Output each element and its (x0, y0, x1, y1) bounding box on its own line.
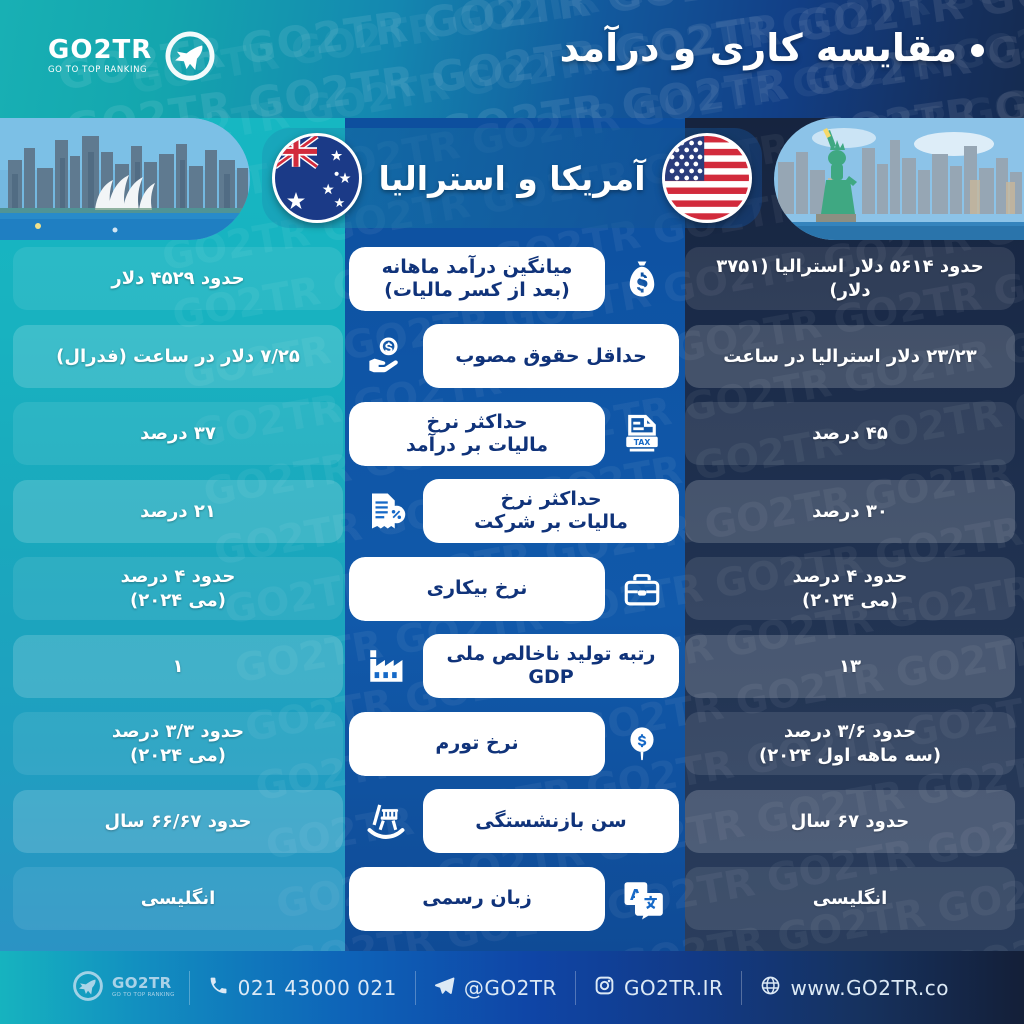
footer-telegram[interactable]: @GO2TR (416, 975, 575, 1001)
sydney-skyline-photo (0, 118, 250, 240)
country-pair-label: آمریکا و استرالیا (378, 159, 645, 198)
footer-website[interactable]: www.GO2TR.co (742, 975, 967, 1001)
logo-tagline: GO TO TOP RANKING (48, 66, 152, 75)
australia-value-cell: حدود ۶۷ سال (685, 790, 1015, 853)
usa-value-line1: حدود ۳/۳ درصد (112, 721, 244, 742)
statue-of-liberty-photo (774, 118, 1024, 240)
footer-logo-tagline: GO TO TOP RANKING (112, 993, 175, 999)
australia-value-line2: (می ۲۰۲۴) (802, 590, 898, 611)
table-row: ۳۰ درصد حداکثر نرخ مالیات بر شرکت ۲۱ درص… (0, 473, 1024, 551)
row-label-center: حداکثر نرخ مالیات بر شرکت (349, 479, 679, 543)
row-label: سن بازنشستگی (423, 789, 679, 853)
usa-flag-icon (662, 133, 752, 223)
footer-logo-name: GO2TR (112, 976, 175, 991)
australia-value-line1: حدود ۳/۶ درصد (784, 721, 916, 742)
table-row: انگلیسی A زبان رسمی انگلیسی (0, 860, 1024, 938)
row-label-center: میانگین درآمد ماهانه (بعد از کسر مالیات) (349, 247, 679, 311)
row-label: نرخ بیکاری (349, 557, 605, 621)
row-label-center: نرخ بیکاری (349, 557, 679, 621)
header-bar: GO2TR GO2TR GO2TR GO2TR GO2TR GO2TR GO2T… (0, 0, 1024, 118)
tax-document-icon: TAX (605, 402, 679, 466)
row-label-line2: (بعد از کسر مالیات) (384, 279, 570, 301)
row-label: نرخ تورم (349, 712, 605, 776)
row-label-line2: GDP (528, 666, 573, 688)
svg-text:TAX: TAX (634, 438, 651, 447)
table-row: حدود ۶۷ سال سن بازنشستگی حدود ۶۶/۶۷ سال (0, 783, 1024, 861)
usa-value-cell: انگلیسی (13, 867, 343, 930)
australia-flag-icon (272, 133, 362, 223)
usa-value-cell: ۳۷ درصد (13, 402, 343, 465)
australia-value-line2: (سه ماهه اول ۲۰۲۴) (759, 745, 941, 766)
row-label: حداکثر نرخ مالیات بر شرکت (423, 479, 679, 543)
page-title: مقایسه کاری و درآمد (560, 26, 984, 70)
hand-coin-icon (349, 324, 423, 388)
australia-value-cell: ۳۰ درصد (685, 480, 1015, 543)
table-row: ۴۵ درصد TAX حداکثر نرخ مالیات بر درآمد ۳… (0, 395, 1024, 473)
row-label-center: TAX حداکثر نرخ مالیات بر درآمد (349, 402, 679, 466)
dollar-balloon-icon (605, 712, 679, 776)
australia-value-cell: انگلیسی (685, 867, 1015, 930)
globe-icon (760, 975, 781, 1001)
row-label-line2: مالیات بر شرکت (474, 511, 628, 533)
telegram-icon (434, 975, 455, 1001)
country-banner: آمریکا و استرالیا (0, 118, 1024, 240)
row-label-line1: میانگین درآمد ماهانه (382, 256, 573, 278)
row-label: رتبه تولید ناخالص ملی GDP (423, 634, 679, 698)
footer-phone[interactable]: 021 43000 021 (190, 975, 415, 1001)
money-bag-icon (605, 247, 679, 311)
usa-value-cell: حدود ۴۵۲۹ دلار (13, 247, 343, 310)
australia-value-cell: ۲۳/۲۳ دلار استرالیا در ساعت (685, 325, 1015, 388)
australia-value-cell: ۱۳ (685, 635, 1015, 698)
usa-value-cell: ۱ (13, 635, 343, 698)
factory-icon (349, 634, 423, 698)
row-label: زبان رسمی (349, 867, 605, 931)
footer-website-text: www.GO2TR.co (790, 976, 949, 1000)
row-label-center: حداقل حقوق مصوب (349, 324, 679, 388)
row-label-line1: حداکثر نرخ (426, 411, 527, 433)
row-label-center: سن بازنشستگی (349, 789, 679, 853)
australia-value-cell: حدود ۳/۶ درصد (سه ماهه اول ۲۰۲۴) (685, 712, 1015, 775)
row-label: میانگین درآمد ماهانه (بعد از کسر مالیات) (349, 247, 605, 311)
row-label-center: رتبه تولید ناخالص ملی GDP (349, 634, 679, 698)
instagram-icon (594, 975, 615, 1001)
go2tr-logo-icon (71, 969, 105, 1007)
usa-value-line2: (می ۲۰۲۴) (130, 590, 226, 611)
footer-telegram-text: @GO2TR (464, 976, 557, 1000)
australia-value-cell: حدود ۴ درصد (می ۲۰۲۴) (685, 557, 1015, 620)
invoice-percent-icon (349, 479, 423, 543)
phone-icon (208, 975, 229, 1001)
usa-value-line1: حدود ۴ درصد (121, 566, 236, 587)
infographic-page: GO2TR GO2TR GO2TR GO2TR GO2TR GO2TR GO2T… (0, 0, 1024, 1024)
row-label: حداقل حقوق مصوب (423, 324, 679, 388)
australia-value-line1: حدود ۴ درصد (793, 566, 908, 587)
comparison-rows: حدود ۵۶۱۴ دلار استرالیا (۳۷۵۱ دلار) میان… (0, 240, 1024, 940)
rocking-chair-icon (349, 789, 423, 853)
usa-value-cell: حدود ۳/۳ درصد (می ۲۰۲۴) (13, 712, 343, 775)
footer-bar: GO2TR GO TO TOP RANKING 021 43000 021 @G… (0, 951, 1024, 1024)
table-row: ۱۳ رتبه تولید ناخالص ملی GDP ۱ (0, 628, 1024, 706)
footer-instagram-text: GO2TR.IR (624, 976, 724, 1000)
usa-value-cell: ۲۱ درصد (13, 480, 343, 543)
table-row: حدود ۵۶۱۴ دلار استرالیا (۳۷۵۱ دلار) میان… (0, 240, 1024, 318)
page-title-text: مقایسه کاری و درآمد (560, 26, 957, 70)
row-label: حداکثر نرخ مالیات بر درآمد (349, 402, 605, 466)
table-row: حدود ۳/۶ درصد (سه ماهه اول ۲۰۲۴) نرخ تور… (0, 705, 1024, 783)
australia-value-cell: حدود ۵۶۱۴ دلار استرالیا (۳۷۵۱ دلار) (685, 247, 1015, 310)
usa-value-cell: حدود ۶۶/۶۷ سال (13, 790, 343, 853)
go2tr-logo-icon (162, 28, 218, 84)
footer-instagram[interactable]: GO2TR.IR (576, 975, 742, 1001)
title-bullet-icon (971, 44, 984, 57)
row-label-line1: رتبه تولید ناخالص ملی (447, 643, 656, 665)
row-label-center: نرخ تورم (349, 712, 679, 776)
table-row: ۲۳/۲۳ دلار استرالیا در ساعت حداقل حقوق م… (0, 318, 1024, 396)
row-label-line2: مالیات بر درآمد (406, 434, 548, 456)
usa-value-cell: ۷/۲۵ دلار در ساعت (فدرال) (13, 325, 343, 388)
row-label-line1: حداکثر نرخ (500, 488, 601, 510)
row-label-center: A زبان رسمی (349, 867, 679, 931)
brand-logo: GO2TR GO TO TOP RANKING (48, 28, 218, 84)
footer-phone-text: 021 43000 021 (238, 976, 397, 1000)
table-row: حدود ۴ درصد (می ۲۰۲۴) نرخ بیکاری حدود ۴ … (0, 550, 1024, 628)
logo-name: GO2TR (48, 37, 152, 63)
briefcase-icon (605, 557, 679, 621)
translate-icon: A (605, 867, 679, 931)
australia-value-cell: ۴۵ درصد (685, 402, 1015, 465)
usa-value-cell: حدود ۴ درصد (می ۲۰۲۴) (13, 557, 343, 620)
usa-value-line2: (می ۲۰۲۴) (130, 745, 226, 766)
country-title-pill: آمریکا و استرالیا (262, 128, 762, 228)
footer-logo: GO2TR GO TO TOP RANKING (57, 969, 189, 1007)
